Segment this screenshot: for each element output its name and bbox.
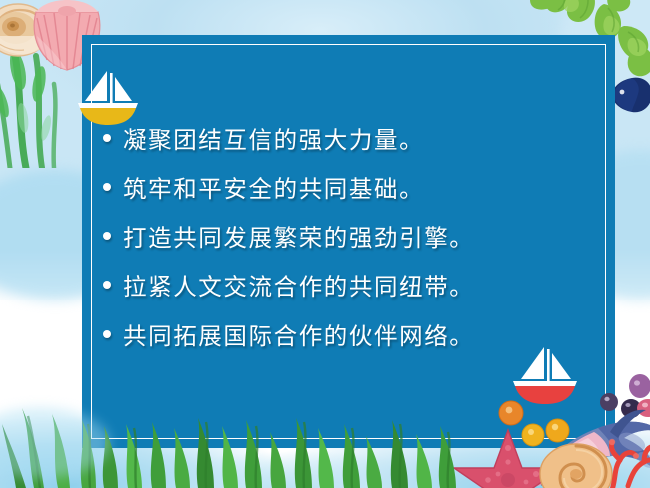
list-item-label: 打造共同发展繁荣的强劲引擎。 [123,219,474,253]
list-item: 打造共同发展繁荣的强劲引擎。 [98,211,605,260]
bullet-dot-icon [103,232,111,240]
bullet-dot-icon [103,330,111,338]
list-item-label: 拉紧人文交流合作的共同纽带。 [123,268,474,302]
list-item: 凝聚团结互信的强大力量。 [98,113,605,162]
list-item: 共同拓展国际合作的伙伴网络。 [98,309,605,358]
list-item-label: 凝聚团结互信的强大力量。 [123,121,424,155]
list-item-label: 共同拓展国际合作的伙伴网络。 [123,317,474,351]
bullet-dot-icon [103,281,111,289]
bullet-list: 凝聚团结互信的强大力量。 筑牢和平安全的共同基础。 打造共同发展繁荣的强劲引擎。… [98,113,605,358]
poster-canvas: 凝聚团结互信的强大力量。 筑牢和平安全的共同基础。 打造共同发展繁荣的强劲引擎。… [0,0,650,488]
list-item: 筑牢和平安全的共同基础。 [98,162,605,211]
bullet-dot-icon [103,134,111,142]
bullet-dot-icon [103,183,111,191]
list-item: 拉紧人文交流合作的共同纽带。 [98,260,605,309]
list-item-label: 筑牢和平安全的共同基础。 [123,170,424,204]
